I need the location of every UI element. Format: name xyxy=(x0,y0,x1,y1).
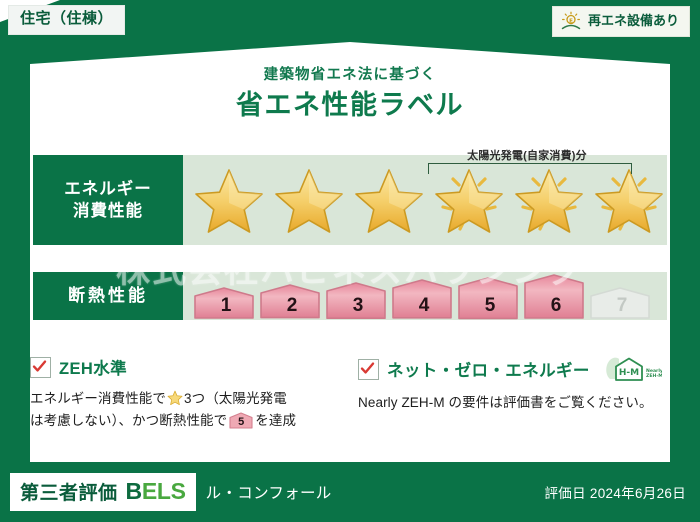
bels-logo: BELS xyxy=(126,478,186,505)
label-subtitle: 建築物省エネ法に基づく xyxy=(0,63,700,84)
svg-text:ZEH-M: ZEH-M xyxy=(646,373,662,379)
renewable-badge-label: 再エネ設備あり xyxy=(588,14,679,28)
insulation-grade-value: 2 xyxy=(259,295,325,317)
insulation-grade-value: 6 xyxy=(523,295,589,317)
checkmark-icon xyxy=(360,361,375,376)
energy-performance-label: エネルギー 消費性能 xyxy=(33,155,183,245)
star-6 xyxy=(589,163,669,237)
insulation-grade-1: 1 xyxy=(193,276,259,320)
zeh-heading: ZEH水準 xyxy=(30,355,330,379)
insulation-grades-area: 1 2 3 xyxy=(183,272,667,320)
zeh-checkbox[interactable] xyxy=(30,357,51,378)
star-3 xyxy=(349,163,429,237)
svg-text:E: E xyxy=(569,19,573,25)
insulation-grade-scale: 1 2 3 xyxy=(183,272,667,320)
bels-logo-b: B xyxy=(126,478,142,504)
zeh-desc-part1: エネルギー消費性能で xyxy=(30,391,166,406)
label-title: 省エネ性能ラベル xyxy=(0,83,700,122)
net-zero-energy-block: ネット・ゼロ・エネルギー H-M Nearly ZEH-M Nearly ZEH… xyxy=(358,355,658,414)
insulation-performance-row: 断熱性能 1 2 xyxy=(33,272,667,320)
insulation-grade-5: 5 xyxy=(457,276,523,320)
solar-annotation-text: 太陽光発電(自家消費)分 xyxy=(420,147,634,163)
energy-label-line1: エネルギー xyxy=(64,178,152,200)
insulation-grade-3: 3 xyxy=(325,276,391,320)
nze-description: Nearly ZEH-M の要件は評価書をご覧ください。 xyxy=(358,392,658,414)
nearly-zeh-m-logo-icon: H-M Nearly ZEH-M xyxy=(604,355,662,383)
star-2 xyxy=(269,163,349,237)
insulation-grade-value: 4 xyxy=(391,295,457,317)
inline-star-icon xyxy=(167,390,183,406)
energy-label-line2: 消費性能 xyxy=(73,200,143,222)
nze-title: ネット・ゼロ・エネルギー xyxy=(387,357,590,381)
inline-grade-badge: 5 xyxy=(229,412,253,429)
bels-jp-label: 第三者評価 xyxy=(20,478,118,505)
bels-energy-label: 住宅（住棟） E 再エネ設備あり 建築物省エネ法に基づく 省エネ性能ラベル 太陽… xyxy=(0,0,700,522)
insulation-grade-6: 6 xyxy=(523,276,589,320)
dwelling-type-tag: 住宅（住棟） xyxy=(8,5,125,35)
insulation-grade-7: 7 xyxy=(589,276,655,320)
star-1 xyxy=(189,163,269,237)
star-5 xyxy=(509,163,589,237)
evaluation-date: 評価日 2024年6月26日 xyxy=(544,482,686,502)
solar-annotation-bracket xyxy=(428,163,632,174)
star-4 xyxy=(429,163,509,237)
zeh-title: ZEH水準 xyxy=(59,355,127,379)
nze-checkbox[interactable] xyxy=(358,359,379,380)
zeh-desc-part3: を達成 xyxy=(255,413,296,428)
svg-text:H-M: H-M xyxy=(619,368,639,378)
nze-heading: ネット・ゼロ・エネルギー H-M Nearly ZEH-M xyxy=(358,355,658,383)
insulation-grade-2: 2 xyxy=(259,276,325,320)
renewable-equipment-badge: E 再エネ設備あり xyxy=(552,6,690,37)
insulation-grade-value: 7 xyxy=(589,295,655,317)
zeh-description: エネルギー消費性能で3つ（太陽光発電 は考慮しない）、かつ断熱性能で5を達成 xyxy=(30,388,330,433)
insulation-grade-4: 4 xyxy=(391,276,457,320)
bels-logo-els: ELS xyxy=(142,478,186,504)
inline-grade-value: 5 xyxy=(229,413,253,431)
insulation-grade-value: 1 xyxy=(193,295,259,317)
insulation-grade-value: 3 xyxy=(325,295,391,317)
footer-bar: 第三者評価 BELS ル・コンフォール 評価日 2024年6月26日 xyxy=(0,462,700,522)
insulation-grade-value: 5 xyxy=(457,295,523,317)
zeh-standard-block: ZEH水準 エネルギー消費性能で3つ（太陽光発電 は考慮しない）、かつ断熱性能で… xyxy=(30,355,330,433)
checkmark-icon xyxy=(32,359,47,374)
zeh-desc-part2: は考慮しない）、かつ断熱性能で xyxy=(30,413,227,428)
insulation-performance-label: 断熱性能 xyxy=(33,272,183,320)
sun-renewable-icon: E xyxy=(560,11,582,31)
zeh-desc-star-count: 3つ（太陽光発電 xyxy=(184,391,287,406)
property-name: ル・コンフォール xyxy=(206,481,332,503)
bels-certification-box: 第三者評価 BELS xyxy=(10,473,196,511)
